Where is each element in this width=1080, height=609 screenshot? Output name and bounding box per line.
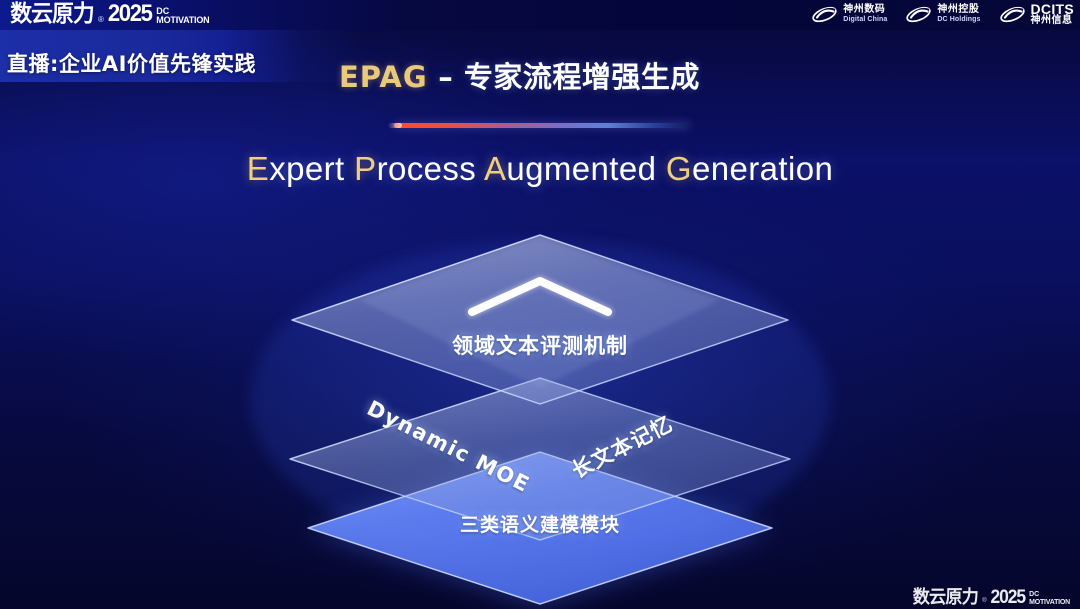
slide-canvas: 数云原力 ® 2025 DC MOTIVATION 神州数码 Digital C… — [0, 0, 1080, 609]
page-title: EPAG – 专家流程增强生成 — [339, 54, 700, 96]
brand-logo-year: 2025 — [108, 2, 152, 26]
subtitle-cap-g: G — [666, 150, 692, 187]
subtitle-space-3 — [656, 150, 666, 187]
subtitle-space-2 — [476, 150, 484, 187]
diagram-label-dynamic-moe: Dynamic MOE — [363, 396, 534, 497]
diagram-label-top: 领域文本评测机制 — [0, 330, 1080, 360]
footer-logo-motivation: MOTIVATION — [1029, 599, 1070, 607]
corporate-logo-en: DC Holdings — [937, 15, 980, 25]
brand-logo-chinese: 数云原力 — [10, 2, 94, 26]
swoosh-icon — [811, 4, 838, 25]
subtitle-rest-augmented: ugmented — [506, 150, 656, 187]
subtitle-cap-e: E — [247, 150, 269, 187]
subtitle-rest-generation: eneration — [692, 150, 833, 187]
subtitle-rest-expert: xpert — [269, 150, 344, 187]
live-banner-text: 直播:企业AI价值先锋实践 — [7, 48, 256, 78]
footer-logo-chinese: 数云原力 — [913, 588, 978, 607]
corporate-logo-text: 神州数码 Digital China — [843, 5, 887, 25]
brand-logo: 数云原力 ® 2025 DC MOTIVATION — [8, 2, 209, 26]
page-title-chinese: 专家流程增强生成 — [464, 60, 700, 94]
swoosh-icon — [905, 4, 932, 25]
corporate-logo-text: 神州控股 DC Holdings — [937, 5, 980, 25]
corporate-logo-cn: 神州数码 — [843, 5, 887, 15]
corporate-logo-text: DCITS 神州信息 — [1031, 3, 1075, 26]
corporate-logo-en: Digital China — [843, 15, 887, 25]
corporate-logo-dc-holdings: 神州控股 DC Holdings — [905, 4, 980, 25]
subtitle-space-1 — [345, 150, 355, 187]
subtitle-rest-process: rocess — [377, 150, 477, 187]
page-subtitle: Expert Process Augmented Generation — [0, 150, 1080, 188]
page-title-separator: – — [428, 60, 464, 94]
footer-logo-registered-mark: ® — [982, 595, 986, 607]
footer-logo-dc: DC — [1029, 591, 1070, 599]
brand-logo-motivation: MOTIVATION — [156, 16, 209, 25]
corporate-logo-dcits: DCITS 神州信息 — [999, 3, 1075, 26]
diagram-label-long-text-memory: 长文本记忆 — [566, 408, 678, 485]
brand-logo-dc-motivation: DC MOTIVATION — [156, 7, 209, 25]
footer-logo-year: 2025 — [990, 588, 1024, 607]
title-divider — [394, 123, 690, 128]
subtitle-cap-p: P — [354, 150, 376, 187]
diagram-label-bottom: 三类语义建模模块 — [0, 510, 1080, 537]
swoosh-icon — [999, 4, 1026, 25]
chevron-up-icon — [472, 281, 608, 312]
brand-logo-registered-mark: ® — [98, 14, 104, 26]
corporate-logo-cn: 神州控股 — [937, 5, 980, 15]
corporate-logo-digital-china: 神州数码 Digital China — [811, 4, 887, 25]
diagram-layer-top — [292, 235, 788, 404]
footer-logo-dc-motivation: DC MOTIVATION — [1029, 591, 1070, 606]
subtitle-cap-a: A — [484, 150, 506, 187]
corporate-logo-group: 神州数码 Digital China 神州控股 DC Holdings — [811, 3, 1074, 26]
footer-watermark-logo: 数云原力 ® 2025 DC MOTIVATION — [911, 588, 1070, 607]
corporate-logo-cn: 神州信息 — [1031, 16, 1075, 26]
page-title-acronym: EPAG — [339, 60, 428, 94]
